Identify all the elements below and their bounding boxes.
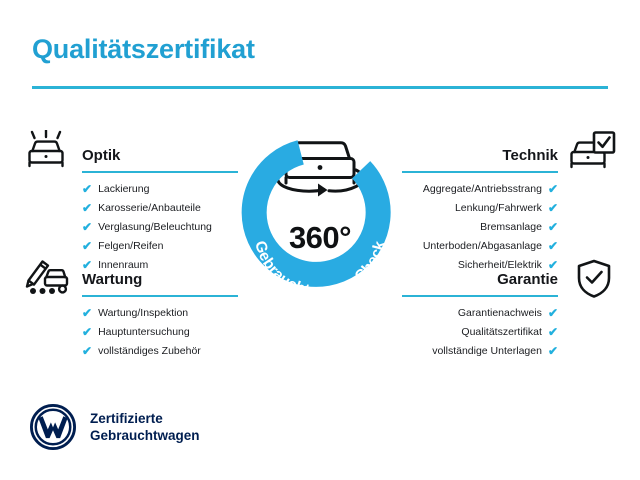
car-shine-icon xyxy=(24,130,68,173)
section-wartung: Wartung ✔ Wartung/Inspektion ✔ Hauptunte… xyxy=(82,270,238,362)
section-header: Garantie xyxy=(402,270,558,294)
footer-brand: Zertifizierte Gebrauchtwagen xyxy=(30,404,200,450)
page-title: Qualitätszertifikat xyxy=(32,34,255,65)
footer-text: Zertifizierte Gebrauchtwagen xyxy=(90,410,200,444)
list-item: vollständige Unterlagen ✔ xyxy=(402,343,558,359)
checklist: ✔ Lackierung ✔ Karosserie/Anbauteile ✔ V… xyxy=(82,181,238,273)
list-item-label: Bremsanlage xyxy=(480,219,542,235)
list-item: ✔ Verglasung/Beleuchtung xyxy=(82,219,238,235)
list-item-label: Lenkung/Fahrwerk xyxy=(455,200,542,216)
section-technik: Technik Aggregate/Antriebsstrang ✔ Lenku… xyxy=(402,146,558,276)
checklist: ✔ Wartung/Inspektion ✔ Hauptuntersuchung… xyxy=(82,305,238,359)
list-item-label: vollständige Unterlagen xyxy=(432,343,542,359)
section-divider xyxy=(82,295,238,297)
check-icon: ✔ xyxy=(82,343,92,359)
check-icon: ✔ xyxy=(82,219,92,235)
section-title: Garantie xyxy=(402,270,558,290)
check-icon: ✔ xyxy=(82,200,92,216)
list-item-label: Felgen/Reifen xyxy=(98,238,163,254)
list-item: ✔ Hauptuntersuchung xyxy=(82,324,238,340)
list-item: Qualitätszertifikat ✔ xyxy=(402,324,558,340)
list-item: Garantienachweis ✔ xyxy=(402,305,558,321)
list-item-label: Wartung/Inspektion xyxy=(98,305,188,321)
check-icon: ✔ xyxy=(548,305,558,321)
list-item: ✔ Felgen/Reifen xyxy=(82,238,238,254)
list-item-label: Garantienachweis xyxy=(458,305,542,321)
section-divider xyxy=(82,171,238,173)
check-icon: ✔ xyxy=(548,219,558,235)
list-item: Aggregate/Antriebsstrang ✔ xyxy=(402,181,558,197)
check-icon: ✔ xyxy=(82,305,92,321)
section-divider xyxy=(402,295,558,297)
checklist: Aggregate/Antriebsstrang ✔ Lenkung/Fahrw… xyxy=(402,181,558,273)
list-item-label: Karosserie/Anbauteile xyxy=(98,200,201,216)
volkswagen-logo xyxy=(30,404,76,450)
section-header: Technik xyxy=(402,146,558,170)
section-garantie: Garantie Garantienachweis ✔ Qualitätszer… xyxy=(402,270,558,362)
list-item: Bremsanlage ✔ xyxy=(402,219,558,235)
check-icon: ✔ xyxy=(82,238,92,254)
gebrauchtwagen-check-badge: Gebrauchtwagen-Check 360° xyxy=(228,120,412,310)
section-title: Wartung xyxy=(82,270,238,290)
section-divider xyxy=(402,171,558,173)
checklist: Garantienachweis ✔ Qualitätszertifikat ✔… xyxy=(402,305,558,359)
check-icon: ✔ xyxy=(548,324,558,340)
list-item-label: Lackierung xyxy=(98,181,149,197)
check-icon: ✔ xyxy=(82,324,92,340)
car-checkbox-icon xyxy=(570,131,616,174)
qualitaetszertifikat-page: Qualitätszertifikat xyxy=(0,0,640,480)
list-item-label: Verglasung/Beleuchtung xyxy=(98,219,212,235)
list-item: ✔ Lackierung xyxy=(82,181,238,197)
list-item-label: Hauptuntersuchung xyxy=(98,324,190,340)
section-title: Technik xyxy=(402,146,558,166)
list-item-label: Aggregate/Antriebsstrang xyxy=(423,181,542,197)
check-icon: ✔ xyxy=(548,200,558,216)
check-icon: ✔ xyxy=(82,181,92,197)
list-item: ✔ Karosserie/Anbauteile xyxy=(82,200,238,216)
title-divider xyxy=(32,86,608,89)
list-item: Unterboden/Abgasanlage ✔ xyxy=(402,238,558,254)
shield-check-icon xyxy=(576,259,612,304)
list-item: ✔ Wartung/Inspektion xyxy=(82,305,238,321)
service-book-pen-car-icon xyxy=(24,256,72,301)
footer-line-2: Gebrauchtwagen xyxy=(90,427,200,444)
list-item: Lenkung/Fahrwerk ✔ xyxy=(402,200,558,216)
footer-line-1: Zertifizierte xyxy=(90,410,200,427)
section-optik: Optik ✔ Lackierung ✔ Karosserie/Anbautei… xyxy=(82,146,238,276)
list-item-label: Unterboden/Abgasanlage xyxy=(423,238,542,254)
list-item-label: Qualitätszertifikat xyxy=(461,324,542,340)
badge-center-label: 360° xyxy=(228,220,412,256)
section-header: Wartung xyxy=(82,270,238,294)
section-title: Optik xyxy=(82,146,238,166)
check-icon: ✔ xyxy=(548,238,558,254)
section-header: Optik xyxy=(82,146,238,170)
list-item-label: vollständiges Zubehör xyxy=(98,343,201,359)
check-icon: ✔ xyxy=(548,343,558,359)
check-icon: ✔ xyxy=(548,181,558,197)
list-item: ✔ vollständiges Zubehör xyxy=(82,343,238,359)
